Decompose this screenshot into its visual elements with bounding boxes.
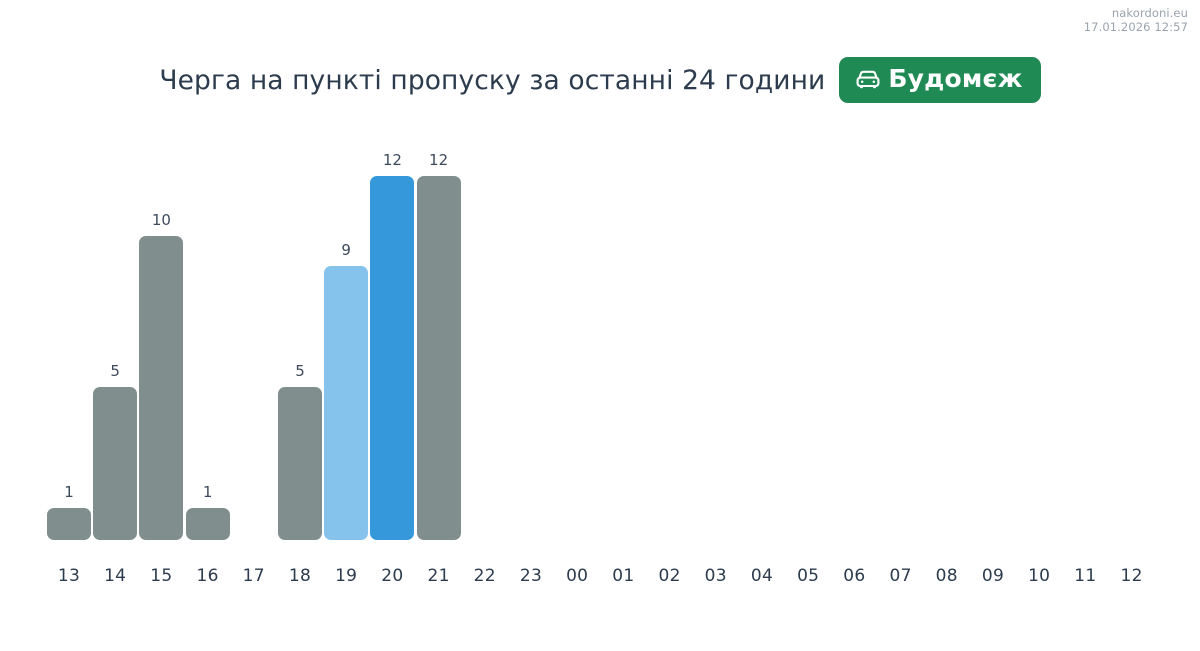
- x-axis-tick: 20: [369, 566, 415, 586]
- bar-slot[interactable]: [831, 120, 877, 540]
- x-axis-tick: 11: [1062, 566, 1108, 586]
- chart-bar[interactable]: [370, 176, 414, 540]
- x-axis-tick: 00: [554, 566, 600, 586]
- bar-slot[interactable]: [1062, 120, 1108, 540]
- bar-slot[interactable]: 1: [46, 120, 92, 540]
- bar-slot[interactable]: 10: [138, 120, 184, 540]
- x-axis: 1314151617181920212223000102030405060708…: [0, 566, 1200, 596]
- bar-slot[interactable]: 12: [369, 120, 415, 540]
- bar-value-label: 10: [152, 211, 171, 229]
- x-axis-tick: 15: [138, 566, 184, 586]
- watermark: nakordoni.eu 17.01.2026 12:57: [1084, 6, 1188, 35]
- chart-header: Черга на пункті пропуску за останні 24 г…: [0, 56, 1200, 104]
- checkpoint-badge-label: Будомєж: [888, 64, 1022, 94]
- chart-bar[interactable]: [93, 387, 137, 540]
- bar-slot[interactable]: [924, 120, 970, 540]
- bar-slot[interactable]: 1: [185, 120, 231, 540]
- bar-slot[interactable]: [693, 120, 739, 540]
- bar-slot[interactable]: [508, 120, 554, 540]
- x-axis-tick: 12: [1109, 566, 1155, 586]
- bar-slot[interactable]: [647, 120, 693, 540]
- page-title: Черга на пункті пропуску за останні 24 г…: [159, 65, 825, 96]
- x-axis-tick: 03: [693, 566, 739, 586]
- x-axis-tick: 01: [600, 566, 646, 586]
- bar-value-label: 12: [429, 151, 448, 169]
- x-axis-tick: 23: [508, 566, 554, 586]
- x-axis-tick: 04: [739, 566, 785, 586]
- x-axis-tick: 09: [970, 566, 1016, 586]
- x-axis-tick: 13: [46, 566, 92, 586]
- bar-slot[interactable]: [231, 120, 277, 540]
- bar-slot[interactable]: [878, 120, 924, 540]
- watermark-timestamp: 17.01.2026 12:57: [1084, 20, 1188, 34]
- x-axis-tick: 21: [416, 566, 462, 586]
- bar-value-label: 1: [64, 483, 74, 501]
- chart-bar[interactable]: [278, 387, 322, 540]
- bar-slot[interactable]: [785, 120, 831, 540]
- bar-slot[interactable]: 9: [323, 120, 369, 540]
- bar-slot[interactable]: [970, 120, 1016, 540]
- bar-value-label: 5: [295, 362, 305, 380]
- chart-bar[interactable]: [186, 508, 230, 540]
- bar-value-label: 9: [341, 241, 351, 259]
- bar-slot[interactable]: [1109, 120, 1155, 540]
- chart-bar[interactable]: [324, 266, 368, 540]
- bar-slot[interactable]: [1016, 120, 1062, 540]
- x-axis-tick: 18: [277, 566, 323, 586]
- x-axis-tick: 08: [924, 566, 970, 586]
- bar-value-label: 5: [110, 362, 120, 380]
- bar-slot[interactable]: [739, 120, 785, 540]
- bar-slot[interactable]: 5: [277, 120, 323, 540]
- bar-slot[interactable]: [462, 120, 508, 540]
- chart-bar[interactable]: [47, 508, 91, 540]
- bar-slot[interactable]: [600, 120, 646, 540]
- bar-slot[interactable]: 12: [416, 120, 462, 540]
- x-axis-tick: 14: [92, 566, 138, 586]
- bar-slot[interactable]: [554, 120, 600, 540]
- bar-value-label: 12: [383, 151, 402, 169]
- watermark-site: nakordoni.eu: [1084, 6, 1188, 20]
- checkpoint-badge[interactable]: Будомєж: [839, 57, 1040, 103]
- x-axis-tick: 17: [231, 566, 277, 586]
- x-axis-tick: 22: [462, 566, 508, 586]
- x-axis-tick: 19: [323, 566, 369, 586]
- x-axis-tick: 05: [785, 566, 831, 586]
- x-axis-tick: 07: [878, 566, 924, 586]
- bar-value-label: 1: [203, 483, 213, 501]
- x-axis-tick: 06: [831, 566, 877, 586]
- chart-bar[interactable]: [139, 236, 183, 540]
- car-icon: [855, 68, 881, 90]
- bar-slot[interactable]: 5: [92, 120, 138, 540]
- chart-bar[interactable]: [417, 176, 461, 540]
- x-axis-tick: 16: [185, 566, 231, 586]
- x-axis-tick: 02: [647, 566, 693, 586]
- bar-chart-plot: 15101591212: [0, 120, 1200, 540]
- x-axis-tick: 10: [1016, 566, 1062, 586]
